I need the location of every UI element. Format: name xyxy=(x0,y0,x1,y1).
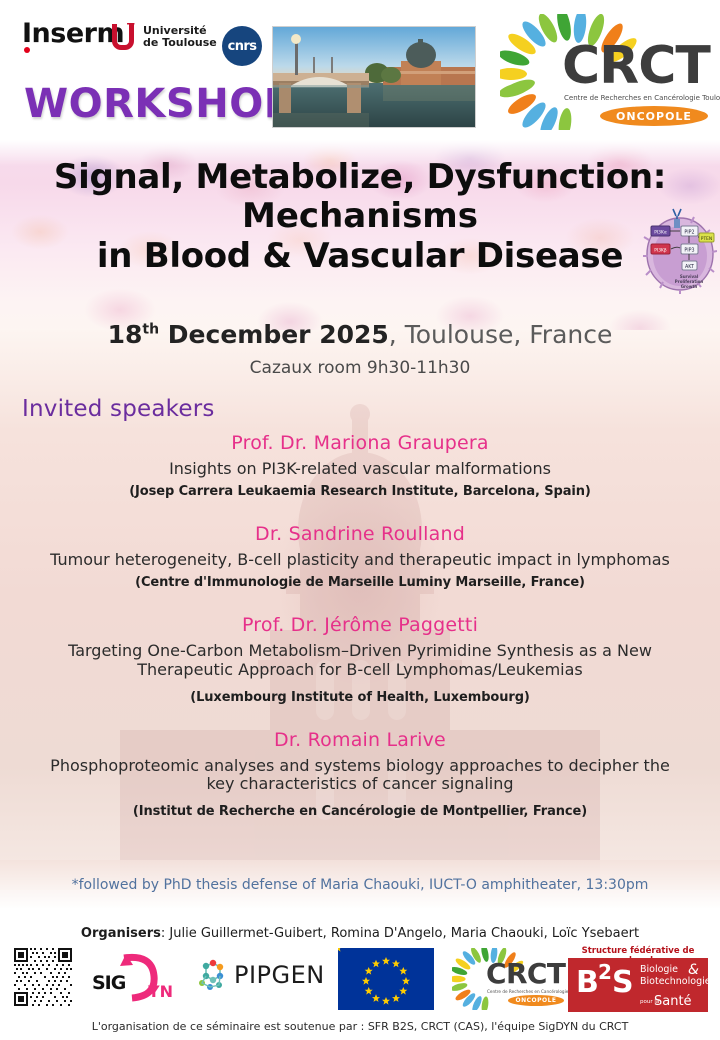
event-room-line: Cazaux room 9h30-11h30 xyxy=(0,358,720,378)
svg-text:PIP2: PIP2 xyxy=(684,230,694,236)
event-place: , Toulouse, France xyxy=(389,320,613,349)
b2s-sante: Santé xyxy=(654,994,692,1009)
b2s-line-1: Biologie xyxy=(640,964,711,976)
inserm-logo-text: Inserm xyxy=(22,20,124,47)
pipgen-logo-text: PIPGEN xyxy=(234,961,325,989)
speaker-talk-title: Tumour heterogeneity, B-cell plasticity … xyxy=(34,551,686,570)
title-line-1: Signal, Metabolize, Dysfunction: xyxy=(0,158,720,197)
footer-logo-row: SIG YN xyxy=(0,946,720,1012)
crct-logo-subtitle: Centre de Recherches en Cancérologie Tou… xyxy=(564,94,720,102)
oncopole-footer-badge: ONCOPOLE xyxy=(508,995,564,1006)
thesis-defense-note: *followed by PhD thesis defense of Maria… xyxy=(0,877,720,893)
speaker-separator xyxy=(0,719,720,729)
speaker-separator xyxy=(0,513,720,523)
speaker-talk-title: Targeting One-Carbon Metabolism–Driven P… xyxy=(34,642,686,680)
universite-line-2: de Toulouse xyxy=(143,37,217,49)
eu-stars xyxy=(338,948,434,1010)
b2s-letter-s: S xyxy=(612,968,634,998)
workshop-poster: Inserm T Université de Toulouse cnrs WOR… xyxy=(0,0,720,1040)
invited-speakers-heading: Invited speakers xyxy=(22,396,215,422)
b2s-line-2: Biotechnologie xyxy=(640,976,711,988)
title-line-2: Mechanisms xyxy=(0,197,720,236)
b2s-logo: Structure fédérative de recherche B 2 S … xyxy=(568,946,708,1012)
poster-footer: Organisers: Julie Guillermet-Guibert, Ro… xyxy=(0,908,720,1040)
speaker-affiliation: (Josep Carrera Leukaemia Research Instit… xyxy=(0,484,720,499)
oncopole-label: ONCOPOLE xyxy=(616,110,692,123)
speaker-entry: Prof. Dr. Mariona Graupera Insights on P… xyxy=(0,432,720,499)
speaker-entry: Dr. Sandrine Roulland Tumour heterogenei… xyxy=(0,523,720,590)
universite-toulouse-logo: T Université de Toulouse xyxy=(112,22,217,52)
speaker-affiliation: (Centre d'Immunologie de Marseille Lumin… xyxy=(0,575,720,590)
svg-text:PI3Kα: PI3Kα xyxy=(654,230,667,236)
toulouse-photo-art xyxy=(273,27,475,127)
organisers-line: Organisers: Julie Guillermet-Guibert, Ro… xyxy=(0,926,720,941)
organisers-label: Organisers xyxy=(81,926,161,941)
sigdyn-yn-text: YN xyxy=(148,982,173,1001)
speaker-talk-title: Insights on PI3K-related vascular malfor… xyxy=(34,460,686,479)
speaker-affiliation: (Institut de Recherche en Cancérologie d… xyxy=(0,804,720,819)
support-line: L'organisation de ce séminaire est soute… xyxy=(0,1020,720,1033)
b2s-digit-2: 2 xyxy=(598,960,612,984)
svg-text:PIP3: PIP3 xyxy=(684,248,694,254)
inserm-logo: Inserm xyxy=(22,20,124,47)
pi3k-pathway-diagram: PI3Kα PI3Kβ PIP2 PIP3 PTEN AKT Survival xyxy=(643,206,717,294)
sigdyn-sig-text: SIG xyxy=(92,972,125,994)
pi3k-pathway-cell-icon: PI3Kα PI3Kβ PIP2 PIP3 PTEN AKT Survival xyxy=(643,206,717,294)
oncopole-footer-label: ONCOPOLE xyxy=(515,997,556,1004)
toulouse-photo xyxy=(272,26,476,128)
universite-toulouse-text: Université de Toulouse xyxy=(143,25,217,50)
qr-code-icon[interactable] xyxy=(14,948,72,1006)
workshop-label: WORKSHOP xyxy=(24,84,294,124)
poster-header: Inserm T Université de Toulouse cnrs WOR… xyxy=(0,0,720,140)
sigdyn-logo: SIG YN xyxy=(90,952,176,1004)
svg-text:PTEN: PTEN xyxy=(701,236,712,242)
event-month-year: December 2025 xyxy=(159,320,389,349)
svg-text:PI3Kβ: PI3Kβ xyxy=(654,248,667,254)
universite-u-mark-icon: T xyxy=(112,22,138,52)
speaker-name: Prof. Dr. Mariona Graupera xyxy=(0,432,720,454)
speaker-name: Prof. Dr. Jérôme Paggetti xyxy=(0,614,720,636)
b2s-wordmark: Biologie Biotechnologie xyxy=(640,964,711,987)
eu-flag-icon xyxy=(338,948,434,1010)
svg-text:Growth: Growth xyxy=(681,284,698,289)
event-day-suffix: th xyxy=(142,322,159,338)
universite-t-letter: T xyxy=(127,22,135,33)
event-day: 18 xyxy=(108,320,143,349)
speaker-name: Dr. Romain Larive xyxy=(0,729,720,751)
speaker-entry: Prof. Dr. Jérôme Paggetti Targeting One-… xyxy=(0,614,720,705)
crct-footer-logo: CRCT Centre de Recherches en Cancérologi… xyxy=(452,948,558,1010)
speaker-affiliation: (Luxembourg Institute of Health, Luxembo… xyxy=(0,690,720,705)
organisers-names: : Julie Guillermet-Guibert, Romina D'Ang… xyxy=(161,926,639,941)
svg-text:AKT: AKT xyxy=(685,264,694,270)
event-date-line: 18th December 2025, Toulouse, France xyxy=(0,320,720,349)
cnrs-logo: cnrs xyxy=(222,26,262,66)
speaker-talk-title: Phosphoproteomic analyses and systems bi… xyxy=(34,757,686,795)
b2s-box: B 2 S & Biologie Biotechnologie pour la … xyxy=(568,958,708,1012)
crct-footer-text: CRCT xyxy=(486,960,565,988)
speakers-list: Prof. Dr. Mariona Graupera Insights on P… xyxy=(0,432,720,833)
pipgen-molecule-icon xyxy=(196,958,230,992)
b2s-letter-b: B xyxy=(576,968,599,998)
poster-body: Signal, Metabolize, Dysfunction: Mechani… xyxy=(0,0,720,1040)
page-title: Signal, Metabolize, Dysfunction: Mechani… xyxy=(0,158,720,276)
cnrs-logo-text: cnrs xyxy=(228,39,257,54)
inserm-dot-icon xyxy=(24,47,30,53)
pipgen-logo: PIPGEN xyxy=(196,958,325,992)
speaker-name: Dr. Sandrine Roulland xyxy=(0,523,720,545)
crct-logo-text: CRCT xyxy=(562,40,710,92)
title-line-3: in Blood & Vascular Disease xyxy=(0,237,720,276)
crct-logo: CRCT Centre de Recherches en Cancérologi… xyxy=(500,14,706,130)
speaker-separator xyxy=(0,604,720,614)
oncopole-badge: ONCOPOLE xyxy=(600,106,708,126)
speaker-entry: Dr. Romain Larive Phosphoproteomic analy… xyxy=(0,729,720,820)
